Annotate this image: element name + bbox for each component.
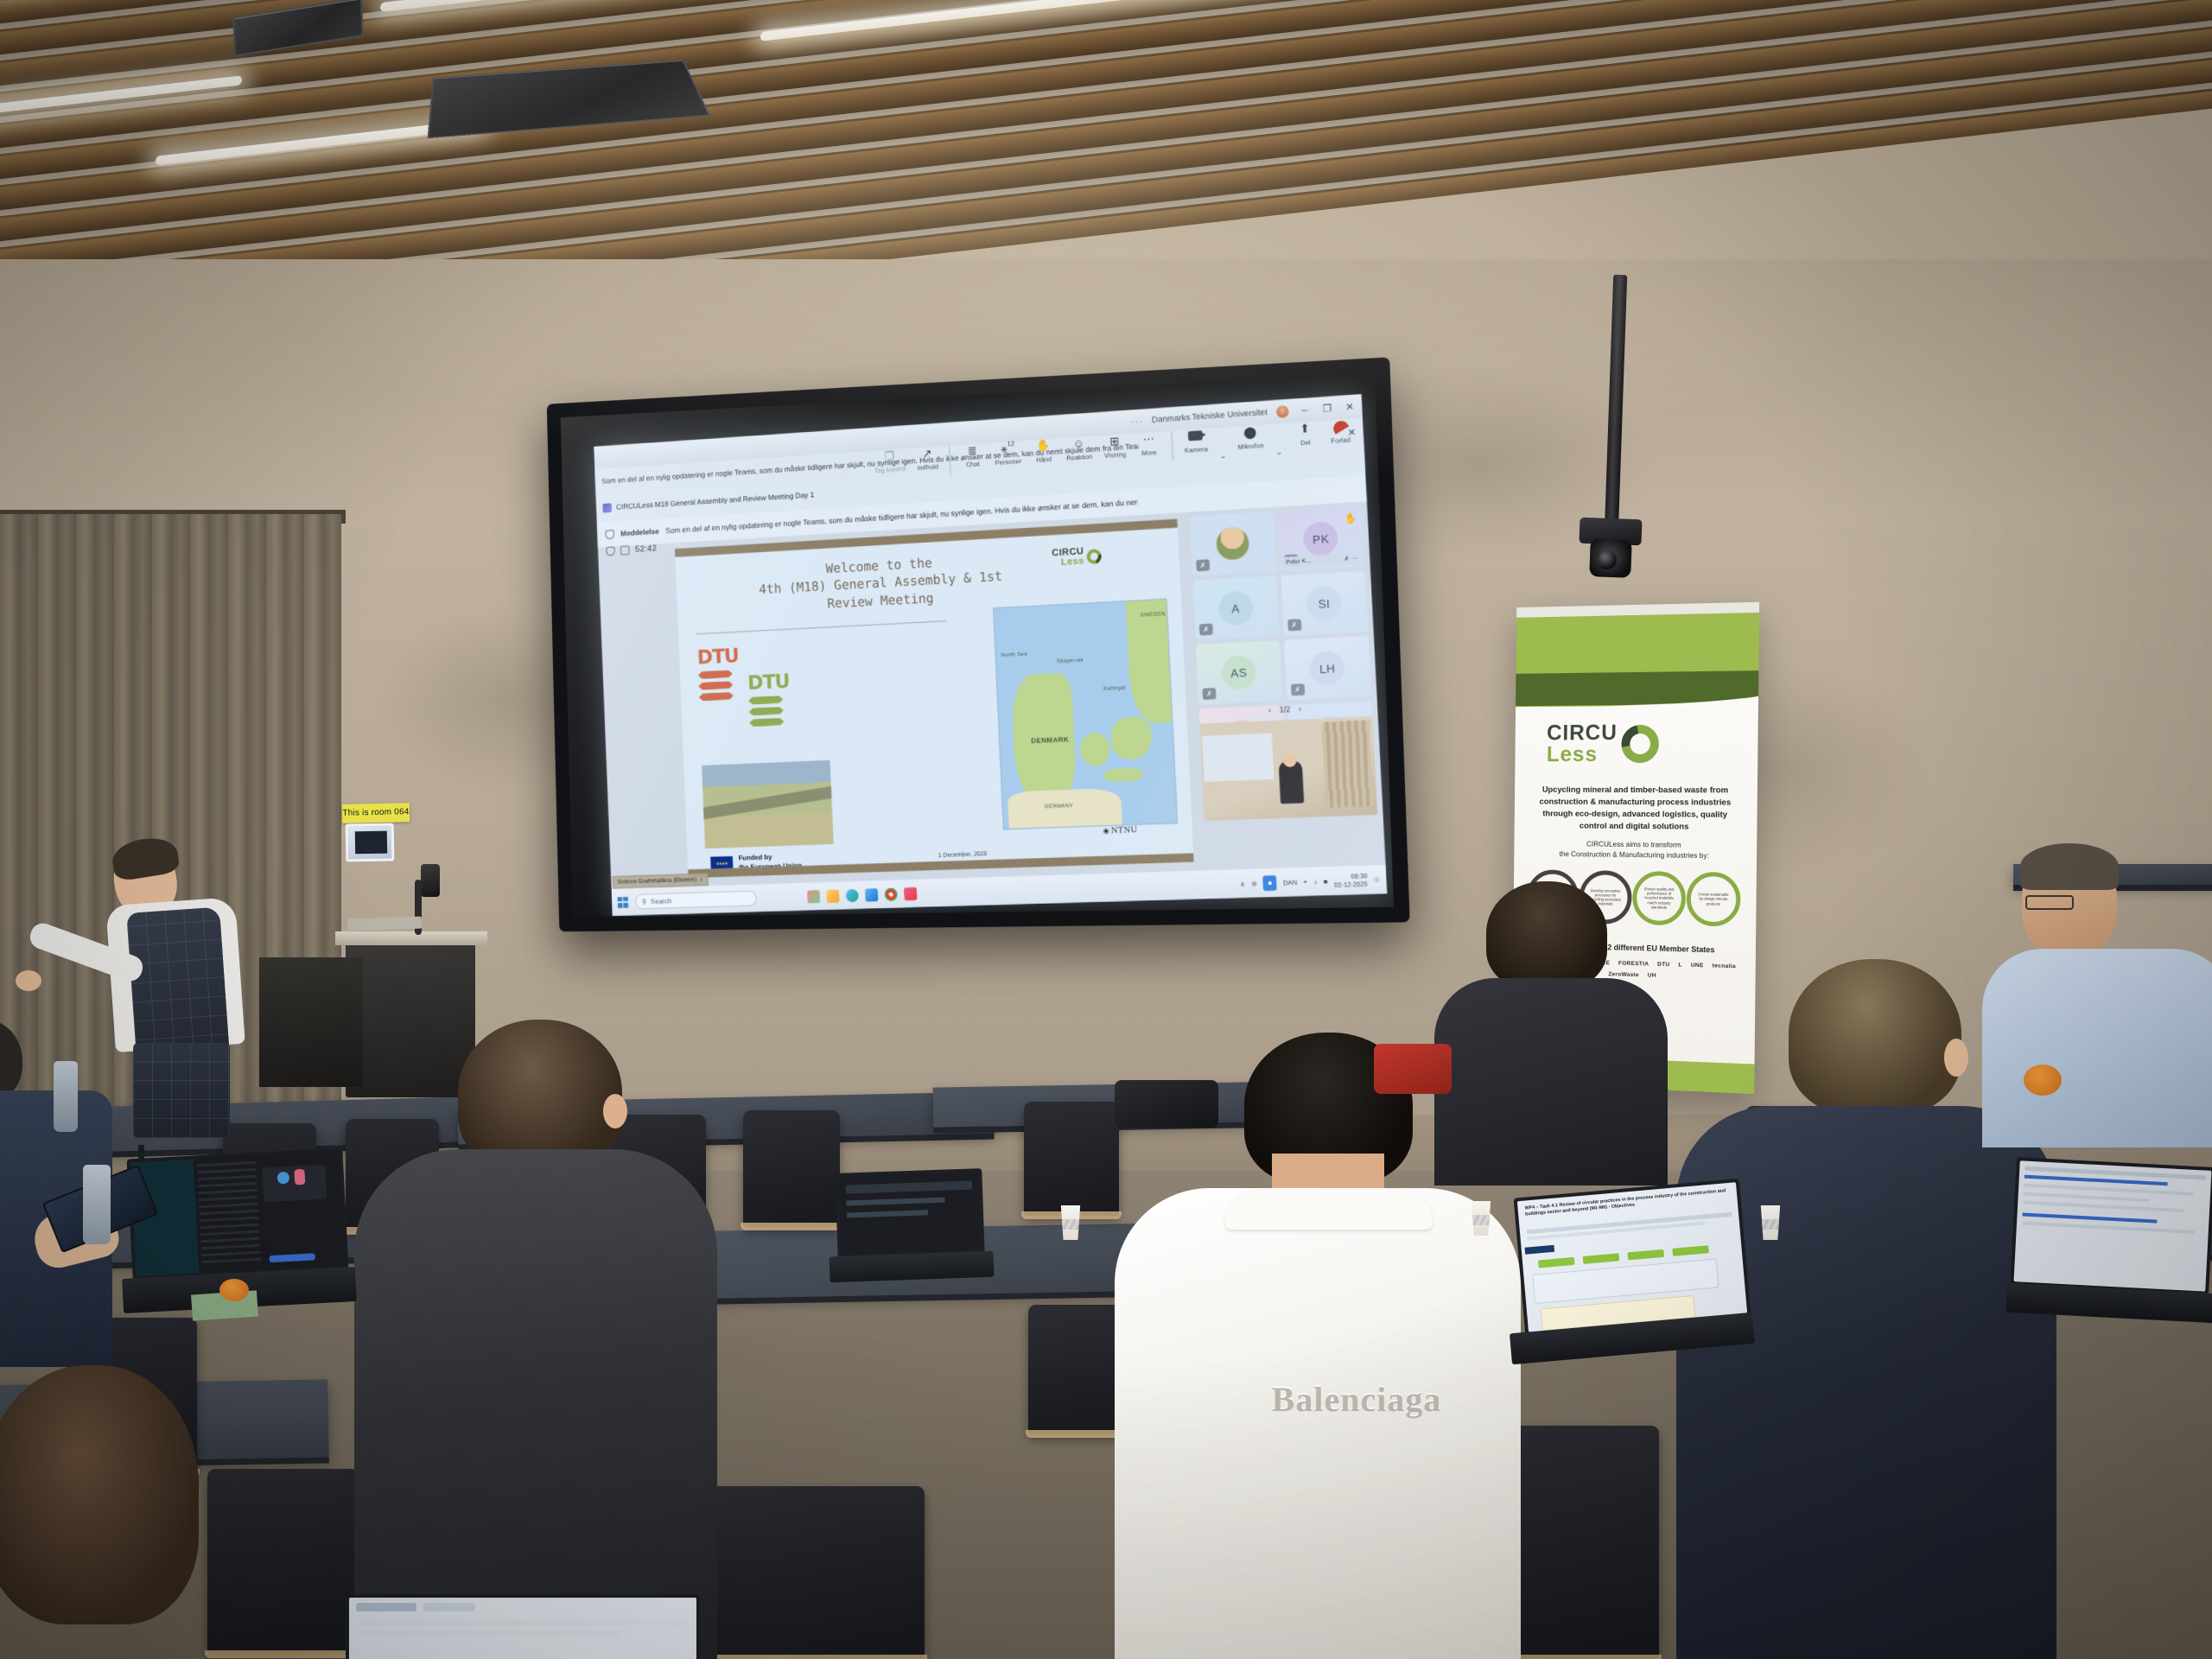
toolbar-hånd-button[interactable]: ✋Hånd	[1032, 438, 1055, 465]
banner-green-shape-dark	[1512, 671, 1760, 707]
laptop-back-center[interactable]	[836, 1171, 992, 1292]
toolbar-indhold-button[interactable]: ↗Indhold	[916, 445, 939, 471]
info-icon	[605, 530, 614, 539]
slide-divider	[696, 620, 947, 634]
share-screen-icon: ⬆	[1297, 421, 1313, 437]
banner-logo-top: CIRCU	[1547, 722, 1618, 744]
dtu-red-bar-3	[699, 692, 734, 702]
camera-icon	[1187, 428, 1203, 443]
toolbar-label: Hånd	[1036, 455, 1052, 464]
audience-person-mid-right-suit	[1417, 881, 1668, 1166]
toolbar-label: Kamera	[1185, 445, 1209, 454]
search-icon: ⚲	[642, 898, 647, 906]
right-navy-hair	[1789, 959, 1961, 1115]
record-icon	[620, 545, 630, 555]
mid-right-hair	[1486, 881, 1607, 989]
wall-socket	[421, 864, 440, 897]
circuless-logo: CIRCU Less	[1052, 546, 1102, 568]
notification-icon[interactable]: ☉	[1374, 875, 1381, 884]
chair-5[interactable]	[743, 1110, 840, 1227]
people-icon: ⚹12	[1000, 441, 1015, 456]
muted-microphone-icon: ✗	[1199, 624, 1213, 636]
denmark-map: DENMARK SWEDEN GERMANY North Sea Kattega…	[993, 599, 1178, 830]
laptop-bottom-screen	[349, 1598, 696, 1659]
circuless-recycle-icon	[1084, 546, 1104, 566]
map-label-denmark: DENMARK	[1031, 735, 1069, 745]
mid-right-suit	[1434, 978, 1668, 1185]
center-left-hair	[458, 1020, 622, 1171]
chat-icon: ≣	[964, 442, 980, 458]
chevron-down-icon[interactable]: ⌄	[1219, 450, 1226, 461]
file-explorer-icon[interactable]	[826, 889, 839, 902]
banner-logo-bottom: Less	[1547, 744, 1618, 766]
center-left-ear	[603, 1094, 627, 1128]
battery-icon[interactable]: ■	[1324, 877, 1328, 885]
meeting-title: CIRCULess M18 General Assembly and Revie…	[616, 490, 814, 511]
center-left-jacket	[354, 1149, 717, 1659]
participant-photo	[1215, 526, 1250, 562]
toolbar-label: Mikrofon	[1237, 442, 1264, 451]
eu-flag-icon	[710, 856, 733, 874]
raised-hand-icon: ✋	[1344, 512, 1357, 524]
eu-funding-line2: the European Union	[739, 861, 802, 873]
participant-tile[interactable]: ✗	[1190, 512, 1276, 576]
map-label-kattegat: Kattegat	[1103, 686, 1126, 692]
taskbar-pinned-icons	[807, 887, 917, 903]
organization-label: Danmarks Tekniske Universitet	[1152, 408, 1268, 425]
toolbar-del-button[interactable]: ⬆Del	[1293, 420, 1318, 447]
toolbar-reaktion-button[interactable]: ☺Reaktion	[1065, 435, 1092, 462]
toolbar-separator	[1171, 431, 1173, 461]
dtu-logo-red: DTU	[697, 646, 741, 701]
minimize-button[interactable]: –	[1298, 404, 1312, 416]
toolbar-label: More	[1141, 448, 1157, 457]
laptop-back-center-lid	[835, 1168, 984, 1258]
center-white-jacket	[1115, 1188, 1521, 1659]
people-count: 12	[1007, 440, 1015, 447]
toolbar-forlad-button[interactable]: Forlad	[1328, 418, 1353, 445]
dtu-red-bar-2	[698, 681, 733, 690]
name-chip-mute-icon: ✗	[1344, 555, 1349, 563]
more-icon: ⋯	[1141, 431, 1156, 447]
windows-desktop: ··· Danmarks Tekniske Universitet – ❐ ✕ …	[594, 394, 1387, 916]
muted-microphone-icon: ✗	[1290, 683, 1304, 696]
muted-microphone-icon: ✗	[1287, 619, 1301, 631]
shield-icon	[606, 546, 615, 556]
banner-recycle-icon	[1614, 717, 1667, 770]
chair-6[interactable]	[1024, 1102, 1119, 1216]
start-button[interactable]	[618, 896, 629, 907]
taskbar-chip-mic-icon: ♪	[700, 877, 703, 883]
tray-chevron-icon[interactable]: ∧	[1240, 880, 1245, 887]
banner-ring-text: Create sustainable by-design circular pr…	[1697, 892, 1730, 906]
map-lolland	[1103, 767, 1142, 782]
audience-person-bottom-left	[0, 1365, 233, 1659]
content-share-icon: ↗	[919, 446, 934, 461]
map-label-germany: GERMANY	[1045, 804, 1074, 810]
close-button[interactable]: ✕	[1343, 401, 1357, 413]
laptop-wp4-lid: WP4 – Task 4.1 Review of circular practi…	[1514, 1179, 1751, 1336]
wall-control-panel[interactable]	[346, 823, 395, 862]
system-tray: ∧ ⊘ ● DAN ◓ ♪ ■ 08:30 02-12-2025 ☉	[1240, 871, 1381, 891]
bottom-left-hair	[0, 1365, 199, 1624]
laptop-front-left-screen	[130, 1152, 346, 1276]
taskbar-clock[interactable]: 08:30 02-12-2025	[1333, 872, 1368, 889]
circuless-logo-bottom: Less	[1052, 556, 1085, 568]
participant-initials: PK	[1303, 521, 1339, 556]
presenter-trousers	[133, 1043, 230, 1138]
tray-microphone-icon[interactable]: ●	[1263, 875, 1277, 891]
chevron-down-icon[interactable]: ⌄	[1275, 447, 1282, 457]
presenter-waistcoat	[126, 906, 230, 1059]
laptop-back-center-screen	[838, 1172, 981, 1255]
audience-person-center-left	[372, 1020, 717, 1659]
peeled-orange	[219, 1279, 249, 1301]
presentation-slide: Welcome to the 4th (M18) General Assembl…	[675, 519, 1194, 879]
toolbar-label: Indhold	[917, 462, 938, 472]
ntnu-logo: NTNU	[1103, 825, 1137, 836]
right-navy-ear	[1944, 1039, 1968, 1077]
conference-room-scene: This is room 064 ··· Danmarks Tekniske U…	[0, 0, 2212, 1659]
dtu-red-word: DTU	[697, 646, 740, 668]
toolbar-label: Visning	[1104, 450, 1127, 460]
participant-initials: AS	[1221, 655, 1256, 690]
laptop-wp4-slide-title: WP4 – Task 4.1 Review of circular practi…	[1524, 1188, 1730, 1218]
raise-hand-icon: ✋	[1036, 438, 1052, 454]
leave-call-icon	[1332, 418, 1348, 435]
participant-tile[interactable]: SI✗	[1281, 571, 1368, 636]
toolbar-chat-button[interactable]: ≣Chat	[961, 442, 984, 469]
view-layout-icon: ⊞	[1107, 433, 1122, 448]
maximize-button[interactable]: ❐	[1320, 403, 1334, 415]
toolbar-separator	[949, 447, 951, 476]
map-label-north-sea: North Sea	[1001, 652, 1028, 659]
laptop-wp4-screen: WP4 – Task 4.1 Review of circular practi…	[1517, 1182, 1747, 1332]
lectern-top	[335, 931, 487, 945]
search-input[interactable]: ⚲ Search	[635, 890, 757, 909]
pager-prev-icon[interactable]: ‹	[1268, 706, 1272, 715]
edge-icon[interactable]	[846, 888, 859, 901]
tangerine-right	[2024, 1065, 2062, 1096]
laptop-far-right-screen	[2013, 1160, 2211, 1291]
chrome-icon[interactable]	[884, 887, 897, 900]
participant-initials: A	[1217, 590, 1253, 626]
toolbar-label: Forlad	[1331, 435, 1351, 445]
presenter-hand	[16, 970, 41, 991]
map-label-skagerrak: Skagerrak	[1057, 658, 1084, 664]
ptz-camera-lens	[1589, 538, 1632, 578]
tray-language[interactable]: DAN	[1283, 878, 1298, 887]
water-bottle-2[interactable]	[83, 1165, 111, 1244]
dtu-green-bar-3	[749, 718, 785, 728]
reaction-icon: ☺	[1071, 435, 1087, 451]
store-icon[interactable]	[865, 888, 878, 901]
room-camera-curtain	[1322, 720, 1374, 807]
toolbar-label: Chat	[966, 460, 980, 468]
notice-prefix: Meddelelse	[620, 527, 659, 537]
lectern-laptop	[347, 917, 422, 931]
wifi-icon[interactable]: ◓	[1303, 878, 1307, 886]
pager-next-icon[interactable]: ›	[1299, 704, 1302, 713]
teams-app-icon	[602, 503, 612, 512]
toolbar-personer-button[interactable]: ⚹12Personer	[995, 440, 1022, 467]
muted-microphone-icon: ✗	[1196, 559, 1210, 571]
name-chip-more-icon[interactable]: ⋯	[1351, 555, 1357, 563]
taskbar-chip-label: Sotirios Grammatikos (Ekstern)	[618, 877, 697, 886]
dtu-green-bar-1	[748, 696, 784, 705]
room-camera-screen	[1202, 733, 1274, 781]
volume-icon[interactable]: ♪	[1313, 877, 1317, 885]
laptop-far-right-lid	[2010, 1157, 2212, 1295]
user-avatar[interactable]	[1276, 405, 1289, 418]
meeting-timer: 52:42	[635, 543, 658, 554]
eu-funding-text: Funded by the European Union	[738, 852, 802, 873]
banner-tagline: Upcycling mineral and timber-based waste…	[1533, 785, 1738, 834]
tray-mute-icon[interactable]: ⊘	[1251, 879, 1257, 887]
participant-tile[interactable]: AS✗	[1196, 640, 1282, 704]
wall-display[interactable]: ··· Danmarks Tekniske Universitet – ❐ ✕ …	[547, 357, 1410, 931]
red-bag[interactable]	[1374, 1044, 1452, 1094]
laptop-bottom-foreground[interactable]	[346, 1594, 709, 1659]
toolbar-label: Del	[1300, 438, 1311, 447]
clock-date: 02-12-2025	[1334, 880, 1368, 888]
slide-date: 1 December, 2025	[938, 851, 988, 859]
banner-aims-line2: the Construction & Manufacturing industr…	[1529, 849, 1740, 861]
map-funen	[1079, 732, 1110, 766]
water-bottle-1[interactable]	[54, 1061, 78, 1132]
participant-tile[interactable]: A✗	[1192, 575, 1279, 639]
dtu-red-bar-1	[698, 670, 733, 679]
room-number-sign: This is room 064	[342, 803, 410, 823]
jacket-brand-text: Balenciaga	[1227, 1378, 1486, 1419]
banner-logo: CIRCU Less	[1547, 722, 1660, 766]
far-right-shirt	[1982, 949, 2212, 1147]
toolbar-label: Reaktion	[1066, 453, 1093, 462]
toolbar-visning-button[interactable]: ⊞Visning	[1103, 433, 1127, 460]
laptop-front-left-lid	[127, 1148, 349, 1281]
campus-aerial-photo	[702, 760, 834, 849]
search-placeholder: Search	[651, 897, 671, 906]
photos-icon[interactable]	[807, 890, 820, 903]
far-right-glasses	[2025, 895, 2074, 910]
room-camera-tile[interactable]	[1199, 716, 1377, 821]
laptop-bottom-lid	[346, 1594, 700, 1659]
toolbar-label: Tag kontrol	[874, 465, 906, 474]
display-screen: ··· Danmarks Tekniske Universitet – ❐ ✕ …	[561, 373, 1394, 918]
toolbar-label: Personer	[995, 457, 1021, 467]
participant-tile[interactable]: LH✗	[1284, 636, 1372, 701]
participant-initials: LH	[1309, 651, 1345, 686]
participant-tile[interactable]: PK✗✋Peter K...✗⋯	[1277, 506, 1364, 571]
dtu-green-word: DTU	[747, 672, 790, 694]
toolbar-kamera-button[interactable]: Kamera	[1184, 428, 1209, 454]
laptop-back-center-base	[829, 1251, 995, 1283]
muted-microphone-icon: ✗	[1202, 688, 1216, 700]
toolbar-mikrofon-button[interactable]: ⬤Mikrofon	[1236, 423, 1264, 450]
recording-timer-row: 52:42	[606, 543, 657, 556]
dtu-green-bar-2	[749, 707, 785, 716]
toolbar-more-button[interactable]: ⋯More	[1137, 430, 1161, 457]
far-right-hair	[2020, 843, 2119, 890]
take-control-icon: ❐	[882, 448, 897, 464]
laptop-far-right[interactable]	[2013, 1162, 2212, 1326]
banner-ring: Create sustainable by-design circular pr…	[1687, 872, 1741, 927]
teams-taskbar-icon[interactable]	[904, 887, 917, 899]
laptop-wp4[interactable]: WP4 – Task 4.1 Review of circular practi…	[1519, 1188, 1752, 1370]
microphone-icon: ⬤	[1242, 424, 1257, 440]
dtu-logo-green: DTU	[747, 672, 791, 727]
pager-label: 1/2	[1279, 705, 1291, 715]
toolbar-tag-kontrol-button[interactable]: ❐Tag kontrol	[874, 448, 906, 474]
center-white-collar	[1225, 1190, 1433, 1230]
map-zealand	[1110, 716, 1153, 760]
titlebar-more-icon[interactable]: ···	[1130, 416, 1143, 427]
participant-name: Peter K...	[1286, 557, 1311, 565]
banner-aims: CIRCULess aims to transform the Construc…	[1529, 839, 1740, 861]
chair-9[interactable]	[709, 1486, 925, 1659]
participant-initials: SI	[1306, 586, 1343, 621]
black-bag[interactable]	[1115, 1080, 1218, 1128]
